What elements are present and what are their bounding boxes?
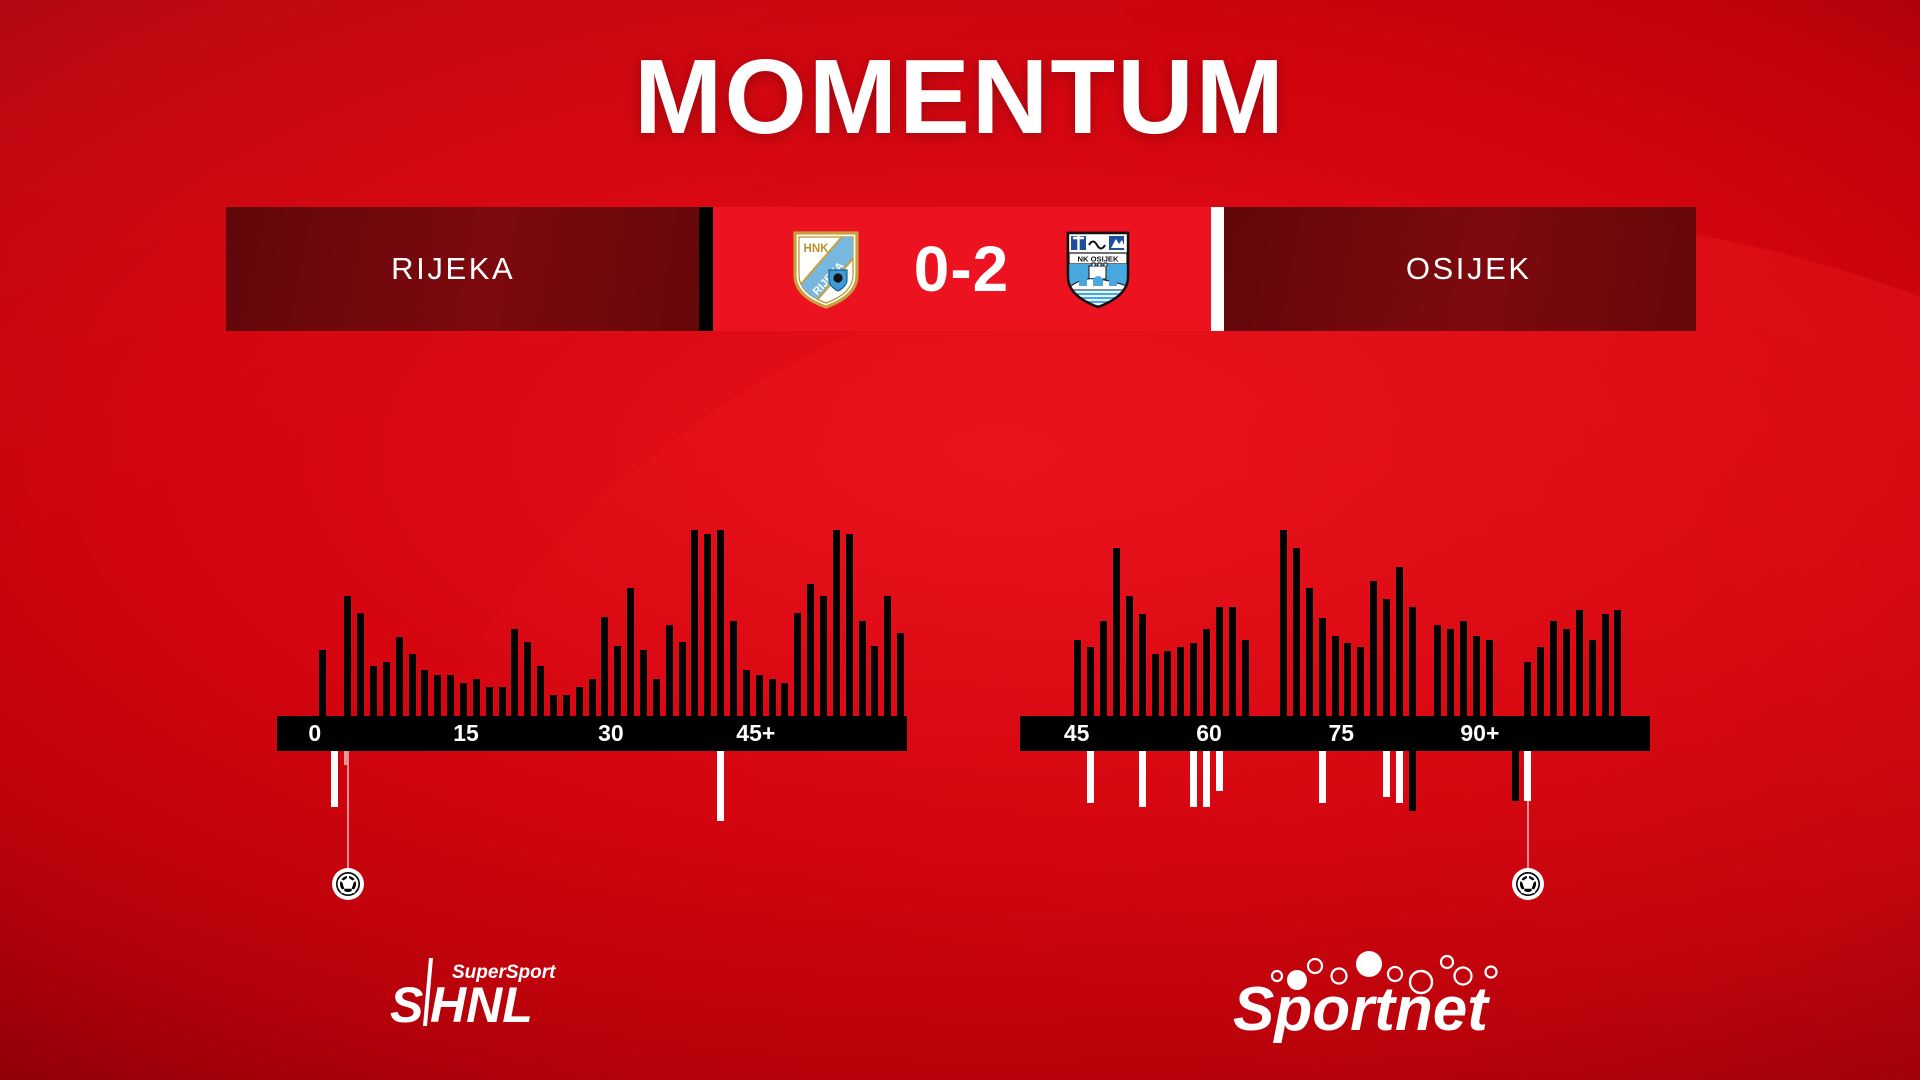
bar-slot [1226, 530, 1239, 720]
bar-slot [611, 530, 624, 720]
football-icon[interactable] [331, 867, 365, 901]
bar-slot [1020, 530, 1033, 720]
momentum-bar [717, 530, 724, 720]
bar-slot [521, 530, 534, 720]
bar-slot [663, 530, 676, 720]
bar-slot [727, 530, 740, 720]
bar-slot [534, 530, 547, 720]
bar-slot [1406, 530, 1419, 720]
bar-slot [881, 530, 894, 720]
momentum-bar [756, 675, 763, 720]
momentum-bar [691, 530, 698, 720]
bar-slot [894, 530, 907, 720]
bar-slot [367, 530, 380, 720]
momentum-chart-first-half: 0153045+ [277, 420, 907, 840]
momentum-bar [859, 621, 866, 720]
momentum-bar [1177, 647, 1184, 720]
bar-slot [1483, 530, 1496, 720]
momentum-bar [794, 613, 801, 720]
momentum-chart-second-half: 45607590+ [1020, 420, 1650, 840]
bar-slot [714, 530, 727, 720]
events-second-half [1020, 751, 1650, 840]
event-marker [1139, 751, 1146, 807]
svg-text:S: S [390, 977, 423, 1030]
bar-slot [830, 530, 843, 720]
football-icon[interactable] [1511, 867, 1545, 901]
bar-slot [740, 530, 753, 720]
momentum-bar [1550, 621, 1557, 720]
bar-slot [1457, 530, 1470, 720]
bar-slot [1174, 530, 1187, 720]
axis-tick-label: 45 [1064, 720, 1090, 747]
bar-slot [586, 530, 599, 720]
bar-slot [1547, 530, 1560, 720]
score-panel: HNK RIJEKA 0-2 [713, 207, 1211, 331]
bar-slot [1136, 530, 1149, 720]
momentum-bar [1152, 654, 1159, 720]
momentum-bar [1190, 643, 1197, 720]
bar-slot [406, 530, 419, 720]
momentum-bar [383, 662, 390, 720]
momentum-bar [1434, 625, 1441, 720]
bar-slot [1599, 530, 1612, 720]
bar-slot [1380, 530, 1393, 720]
bar-slot [1432, 530, 1445, 720]
bar-slot [290, 530, 303, 720]
momentum-bar [704, 534, 711, 720]
event-marker [1319, 751, 1326, 803]
bar-slot [573, 530, 586, 720]
bar-slot [1097, 530, 1110, 720]
bar-slot [856, 530, 869, 720]
momentum-bar [1473, 636, 1480, 720]
bar-slot [1586, 530, 1599, 720]
momentum-bar [1614, 610, 1621, 720]
bar-slot [303, 530, 316, 720]
bar-slot [843, 530, 856, 720]
momentum-bar [1074, 640, 1081, 720]
bar-slot [560, 530, 573, 720]
axis-second-half: 45607590+ [1020, 716, 1650, 751]
bar-slot [1329, 530, 1342, 720]
event-marker [1203, 751, 1210, 807]
bar-slot [1367, 530, 1380, 720]
bar-slot [1123, 530, 1136, 720]
momentum-bar [807, 584, 814, 720]
bar-slot [766, 530, 779, 720]
bar-slot [1059, 530, 1072, 720]
momentum-bar [653, 679, 660, 720]
event-marker [1383, 751, 1390, 797]
bar-slot [277, 530, 290, 720]
momentum-bar [679, 642, 686, 720]
bar-slot [431, 530, 444, 720]
momentum-bar [1216, 607, 1223, 720]
bar-slot [328, 530, 341, 720]
bar-slot [1264, 530, 1277, 720]
bar-slot [1341, 530, 1354, 720]
bar-slot [1239, 530, 1252, 720]
momentum-bar [769, 679, 776, 720]
momentum-bar [871, 646, 878, 720]
events-first-half [277, 751, 907, 840]
bar-slot [650, 530, 663, 720]
bar-slot [380, 530, 393, 720]
event-marker [1512, 751, 1519, 801]
bar-slot [1612, 530, 1625, 720]
momentum-bar [1357, 647, 1364, 720]
momentum-bar [897, 633, 904, 720]
momentum-bar [1383, 599, 1390, 720]
bar-slot [1624, 530, 1637, 720]
nk-osijek-crest: NK OSIJEK [1063, 229, 1133, 309]
momentum-bar [511, 629, 518, 720]
bar-slot [1522, 530, 1535, 720]
event-marker [1396, 751, 1403, 803]
momentum-bar [743, 670, 750, 720]
bar-slot [418, 530, 431, 720]
bars-first-half [277, 530, 907, 720]
bar-slot [624, 530, 637, 720]
sportnet-logo: Sportnet [1225, 940, 1555, 1048]
svg-text:NK OSIJEK: NK OSIJEK [1077, 255, 1118, 264]
bar-slot [1303, 530, 1316, 720]
momentum-bar [524, 642, 531, 720]
momentum-bar [589, 679, 596, 720]
momentum-bar [357, 613, 364, 720]
bar-slot [1496, 530, 1509, 720]
momentum-bar [833, 530, 840, 720]
momentum-bar [1563, 629, 1570, 720]
momentum-bar [370, 666, 377, 720]
bar-slot [1354, 530, 1367, 720]
momentum-bar [1460, 621, 1467, 720]
momentum-bar [319, 650, 326, 720]
bar-slot [1393, 530, 1406, 720]
bar-slot [1033, 530, 1046, 720]
momentum-bar [1242, 640, 1249, 720]
scoreboard: RIJEKA HNK RIJEKA 0-2 [226, 207, 1696, 331]
momentum-bar [1332, 636, 1339, 720]
momentum-bar [1164, 651, 1171, 720]
bar-slot [457, 530, 470, 720]
momentum-bar [1203, 629, 1210, 720]
momentum-bar [1409, 607, 1416, 720]
bar-slot [689, 530, 702, 720]
momentum-bar [884, 596, 891, 720]
bar-slot [869, 530, 882, 720]
momentum-bar [1486, 640, 1493, 720]
momentum-bar [1576, 610, 1583, 720]
away-team-panel: OSIJEK [1224, 207, 1697, 331]
axis-tick-label: 15 [453, 720, 479, 747]
bar-slot [1277, 530, 1290, 720]
momentum-bar [1589, 640, 1596, 720]
bar-slot [393, 530, 406, 720]
momentum-bar [1280, 530, 1287, 720]
bar-slot [1251, 530, 1264, 720]
bar-slot [1149, 530, 1162, 720]
momentum-bar [473, 679, 480, 720]
svg-text:HNK: HNK [803, 243, 829, 255]
bar-slot [1470, 530, 1483, 720]
bar-slot [1071, 530, 1084, 720]
svg-text:Sportnet: Sportnet [1233, 975, 1490, 1044]
bar-slot [1046, 530, 1059, 720]
bar-slot [547, 530, 560, 720]
bar-slot [791, 530, 804, 720]
bar-slot [804, 530, 817, 720]
axis-tick-label: 90+ [1460, 720, 1499, 747]
bar-slot [1187, 530, 1200, 720]
bar-slot [1419, 530, 1432, 720]
momentum-bar [460, 683, 467, 720]
page-title: MOMENTUM [0, 42, 1920, 153]
event-marker [331, 751, 338, 807]
momentum-bar [1113, 548, 1120, 720]
supersport-hnl-logo: SuperSport S HNL [390, 952, 570, 1030]
scoreboard-divider-left [699, 207, 713, 331]
event-marker [717, 751, 724, 821]
scoreboard-divider-right [1211, 207, 1224, 331]
momentum-bar [1319, 618, 1326, 720]
bar-slot [1560, 530, 1573, 720]
momentum-bar [640, 650, 647, 720]
bar-slot [779, 530, 792, 720]
momentum-bar [1524, 662, 1531, 720]
bar-slot [753, 530, 766, 720]
event-marker [1087, 751, 1094, 803]
momentum-bar [1344, 643, 1351, 720]
bar-slot [1161, 530, 1174, 720]
bar-slot [444, 530, 457, 720]
momentum-bar [1306, 588, 1313, 720]
bar-slot [483, 530, 496, 720]
bar-slot [817, 530, 830, 720]
momentum-bar [730, 621, 737, 720]
momentum-bar [627, 588, 634, 720]
bar-slot [341, 530, 354, 720]
bar-slot [316, 530, 329, 720]
momentum-bar [820, 596, 827, 720]
momentum-bar [1293, 548, 1300, 720]
match-score: 0-2 [879, 232, 1045, 306]
momentum-bar [1370, 581, 1377, 720]
bar-slot [354, 530, 367, 720]
away-team-name: OSIJEK [1406, 251, 1532, 287]
bar-slot [1509, 530, 1522, 720]
momentum-bar [601, 617, 608, 720]
momentum-bar [1447, 629, 1454, 720]
momentum-bar [1396, 567, 1403, 720]
event-marker [1409, 751, 1416, 811]
bar-slot [1573, 530, 1586, 720]
momentum-bar [396, 637, 403, 720]
bar-slot [470, 530, 483, 720]
momentum-bar [614, 646, 621, 720]
bar-slot [1213, 530, 1226, 720]
axis-tick-label: 45+ [736, 720, 775, 747]
momentum-bar [666, 625, 673, 720]
momentum-bar [537, 666, 544, 720]
goal-connector-line [1527, 751, 1529, 871]
momentum-bar [1229, 607, 1236, 720]
hnk-rijeka-crest: HNK RIJEKA [791, 229, 861, 309]
bar-slot [1084, 530, 1097, 720]
bar-slot [1110, 530, 1123, 720]
momentum-bar [1126, 596, 1133, 720]
momentum-bar [1139, 614, 1146, 720]
bar-slot [496, 530, 509, 720]
axis-tick-label: 0 [308, 720, 321, 747]
home-team-panel: RIJEKA [226, 207, 699, 331]
bar-slot [1444, 530, 1457, 720]
bar-slot [1534, 530, 1547, 720]
svg-text:HNL: HNL [430, 977, 533, 1030]
momentum-bar [1087, 647, 1094, 720]
bar-slot [637, 530, 650, 720]
momentum-bar [409, 654, 416, 720]
event-marker [1190, 751, 1197, 807]
bar-slot [508, 530, 521, 720]
momentum-bar [1100, 621, 1107, 720]
momentum-bar [781, 683, 788, 720]
bar-slot [1316, 530, 1329, 720]
momentum-bar [1602, 614, 1609, 720]
bars-second-half [1020, 530, 1650, 720]
axis-tick-label: 60 [1196, 720, 1222, 747]
bar-slot [1637, 530, 1650, 720]
home-team-name: RIJEKA [391, 251, 515, 287]
axis-tick-label: 75 [1329, 720, 1355, 747]
bar-slot [701, 530, 714, 720]
bar-slot [1200, 530, 1213, 720]
axis-first-half: 0153045+ [277, 716, 907, 751]
momentum-bar [421, 670, 428, 720]
axis-tick-label: 30 [598, 720, 624, 747]
momentum-bar [1537, 647, 1544, 720]
event-marker [1216, 751, 1223, 791]
momentum-bar [434, 675, 441, 720]
bar-slot [676, 530, 689, 720]
momentum-bar [344, 596, 351, 720]
momentum-bar [846, 534, 853, 720]
goal-connector-line [347, 751, 349, 871]
bar-slot [598, 530, 611, 720]
bar-slot [1290, 530, 1303, 720]
momentum-bar [447, 675, 454, 720]
